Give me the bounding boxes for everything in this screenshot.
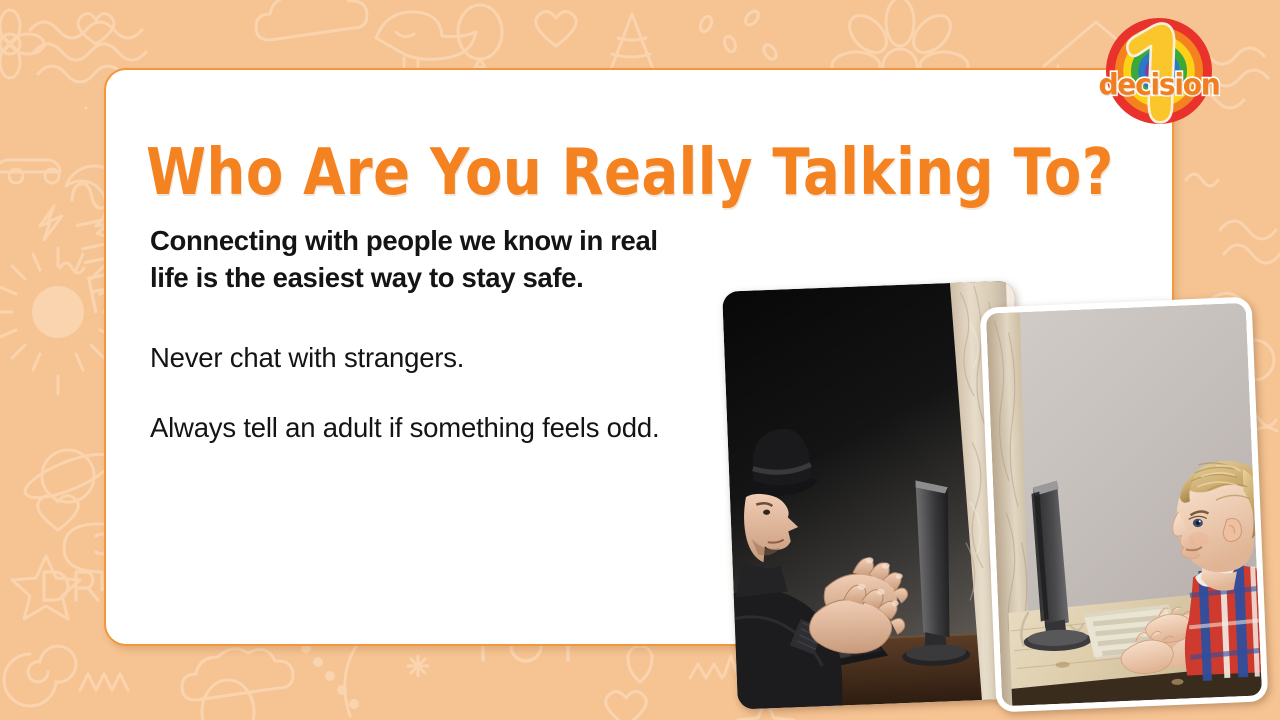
slide-canvas: Who Are You Really Talking To? Connectin…: [0, 0, 1280, 720]
paragraph-never-chat: Never chat with strangers.: [150, 340, 670, 376]
paragraph-lead: Connecting with people we know in real l…: [150, 222, 670, 296]
body-text-block: Connecting with people we know in real l…: [150, 222, 670, 446]
logo-wordmark: decision: [1093, 67, 1225, 102]
page-title: Who Are You Really Talking To?: [146, 135, 1114, 209]
paragraph-tell-adult: Always tell an adult if something feels …: [150, 410, 670, 446]
photo-child-at-computer: [980, 296, 1269, 712]
brand-logo[interactable]: decision: [1093, 12, 1225, 130]
photo-child-image: [986, 303, 1262, 707]
photo-collage: [724, 282, 1264, 707]
